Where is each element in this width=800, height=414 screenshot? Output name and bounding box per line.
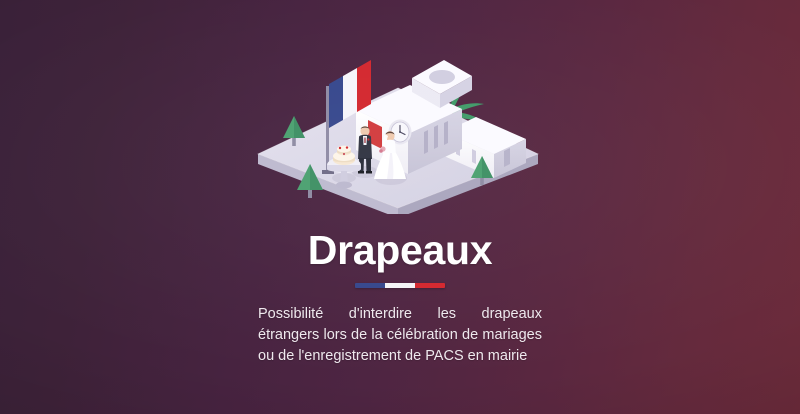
flag-band-red [357, 60, 371, 112]
flag-band-white [343, 68, 357, 120]
page-title: Drapeaux [0, 226, 800, 274]
text-block: Drapeaux Possibilité d'interdire les dra… [0, 226, 800, 367]
divider-band-blue [355, 283, 385, 288]
divider-band-white [385, 283, 415, 288]
page-subtitle: Possibilité d'interdire les drapeaux étr… [258, 304, 542, 367]
french-flag-divider [355, 283, 445, 288]
flag-band-blue [329, 76, 343, 128]
divider-band-red [415, 283, 445, 288]
isometric-city-hall-wedding-illustration [248, 46, 548, 214]
infographic-card: Drapeaux Possibilité d'interdire les dra… [0, 0, 800, 414]
